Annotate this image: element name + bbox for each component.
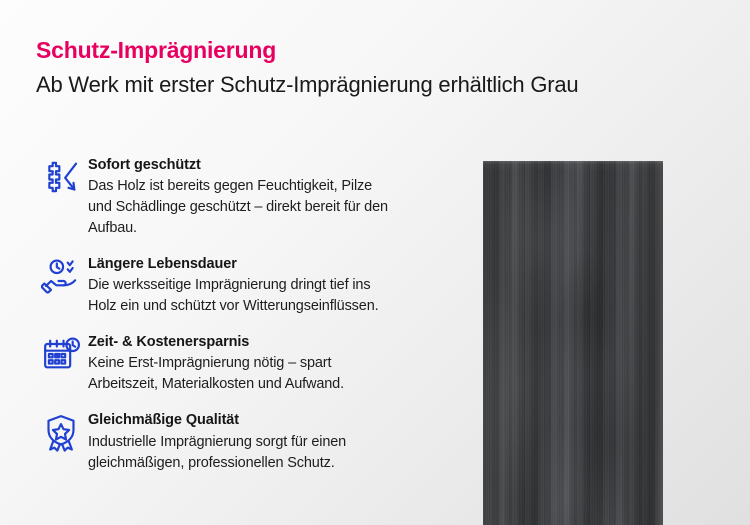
wood-plank-grey bbox=[483, 161, 663, 525]
calendar-clock-icon bbox=[34, 332, 88, 382]
feature-item: Zeit- & Kostenersparnis Keine Erst-Imprä… bbox=[34, 332, 454, 395]
feature-item: Längere Lebensdauer Die werksseitige Imp… bbox=[34, 254, 454, 317]
feature-text: Sofort geschützt Das Holz ist bereits ge… bbox=[88, 155, 454, 239]
feature-title: Längere Lebensdauer bbox=[88, 255, 454, 273]
feature-list: Sofort geschützt Das Holz ist bereits ge… bbox=[34, 155, 454, 474]
page-root: Schutz-Imprägnierung Ab Werk mit erster … bbox=[0, 0, 750, 525]
feature-description: Das Holz ist bereits gegen Feuchtigkeit,… bbox=[88, 176, 398, 239]
feature-description: Die werksseitige Imprägnierung dringt ti… bbox=[88, 275, 398, 317]
plank-arrow-icon bbox=[34, 155, 88, 205]
feature-title: Zeit- & Kostenersparnis bbox=[88, 333, 454, 351]
page-eyebrow: Schutz-Imprägnierung bbox=[36, 36, 686, 64]
feature-text: Längere Lebensdauer Die werksseitige Imp… bbox=[88, 254, 454, 317]
feature-text: Gleichmäßige Qualität Industrielle Imprä… bbox=[88, 410, 454, 473]
header: Schutz-Imprägnierung Ab Werk mit erster … bbox=[36, 36, 686, 100]
feature-title: Gleichmäßige Qualität bbox=[88, 411, 454, 429]
shield-star-badge-icon bbox=[34, 410, 88, 460]
feature-text: Zeit- & Kostenersparnis Keine Erst-Imprä… bbox=[88, 332, 454, 395]
feature-item: Gleichmäßige Qualität Industrielle Imprä… bbox=[34, 410, 454, 473]
page-title: Ab Werk mit erster Schutz-Imprägnierung … bbox=[36, 70, 676, 100]
feature-description: Industrielle Imprägnierung sorgt für ein… bbox=[88, 432, 398, 474]
product-image bbox=[483, 161, 663, 525]
feature-item: Sofort geschützt Das Holz ist bereits ge… bbox=[34, 155, 454, 239]
feature-title: Sofort geschützt bbox=[88, 156, 454, 174]
hand-clock-icon bbox=[34, 254, 88, 304]
feature-description: Keine Erst-Imprägnierung nötig – spart A… bbox=[88, 353, 398, 395]
